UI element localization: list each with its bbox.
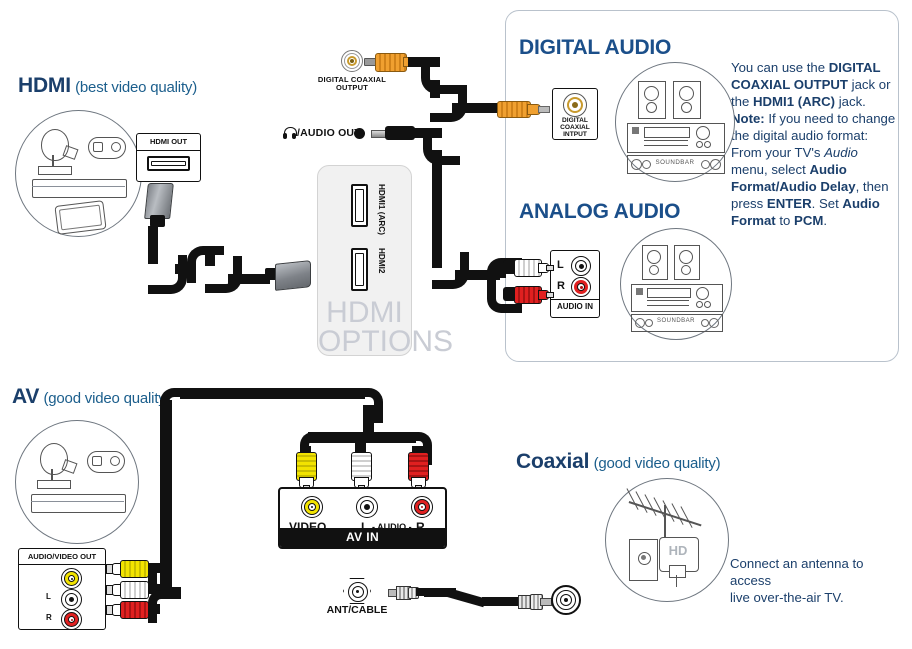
coax-cable-plug-right bbox=[497, 99, 549, 116]
digital-audio-note: You can use the DIGITAL COAXIAL OUTPUT j… bbox=[731, 60, 897, 230]
analog-jack-right[interactable] bbox=[571, 277, 591, 297]
note-bold-hdmi1-arc: HDMI1 (ARC) bbox=[753, 94, 835, 109]
ant-cable-jack[interactable] bbox=[343, 578, 371, 604]
av-cable-bundle-h-top bbox=[180, 388, 365, 399]
av-out-video-jack[interactable] bbox=[61, 568, 82, 589]
digital-coaxial-output-label: DIGITAL COAXIAL OUTPUT bbox=[302, 76, 402, 92]
digital-coaxial-input-plate: DIGITAL COAXIAL INTPUT bbox=[552, 88, 598, 140]
hdmi-out-port[interactable] bbox=[147, 156, 190, 171]
av-subtitle: (good video quality) bbox=[43, 390, 170, 407]
audio-out-jack[interactable] bbox=[354, 128, 365, 139]
av-in-video-jack[interactable] bbox=[301, 496, 323, 518]
hdmi-subtitle: (best video quality) bbox=[75, 79, 197, 96]
hdmi-out-label: HDMI OUT bbox=[137, 138, 200, 146]
audio-video-out-plate: AUDIO/VIDEO OUT L R bbox=[18, 548, 106, 630]
av-cable-bundle-v bbox=[160, 400, 172, 590]
digital-soundbar-illustration: SOUNDBAR bbox=[615, 62, 735, 182]
audio-video-out-label: AUDIO/VIDEO OUT bbox=[19, 552, 105, 561]
ant-cable-label: ANT/CABLE bbox=[320, 605, 394, 616]
analog-audio-heading: ANALOG AUDIO bbox=[519, 200, 680, 224]
coax-f-plug-right bbox=[518, 593, 554, 609]
note-seg-8: to bbox=[776, 213, 794, 228]
av-section-title: AV (good video quality) bbox=[12, 385, 170, 409]
coax-cable-plug-left bbox=[364, 53, 412, 70]
coax-antenna-cable-diag bbox=[447, 588, 486, 607]
note-seg-3: jack. bbox=[835, 94, 866, 109]
analog-audio-in-plate: L R AUDIO IN bbox=[550, 250, 600, 318]
note-seg-5: menu, select bbox=[731, 162, 809, 177]
hdmi-options-text-line2: OPTIONS bbox=[318, 327, 411, 356]
wall-coax-jack[interactable] bbox=[551, 585, 581, 615]
rca-plug-right-red bbox=[503, 286, 551, 302]
coaxial-caption: Connect an antenna to access live over-t… bbox=[730, 556, 905, 607]
note-italic-audio: Audio bbox=[824, 145, 858, 160]
diagram-canvas: DIGITAL AUDIO ANALOG AUDIO You can use t… bbox=[0, 0, 912, 649]
hdmi-title: HDMI bbox=[18, 74, 71, 97]
coax-input-label: DIGITAL COAXIAL INTPUT bbox=[553, 118, 597, 139]
audio-out-label: /AUDIO OUT bbox=[297, 127, 361, 139]
av-out-audio-l-jack[interactable] bbox=[61, 589, 82, 610]
audio-in-label: AUDIO IN bbox=[551, 303, 599, 311]
av-in-bar-label: AV IN bbox=[280, 528, 445, 547]
note-bold-enter: ENTER bbox=[767, 196, 812, 211]
hdmi-section-title: HDMI (best video quality) bbox=[18, 74, 197, 98]
analog-row-l-label: L bbox=[557, 259, 564, 271]
coaxial-caption-line1: Connect an antenna to access bbox=[730, 556, 905, 590]
av-cable-red-bend bbox=[148, 590, 181, 623]
av-out-l-label: L bbox=[46, 592, 51, 601]
coaxial-antenna-illustration: HD bbox=[605, 478, 729, 602]
note-seg-9: . bbox=[823, 213, 827, 228]
analog-soundbar-illustration: SOUNDBAR bbox=[620, 228, 732, 340]
hdmi-cable-plug-end bbox=[265, 262, 309, 288]
hdmi-cable-plug-top bbox=[146, 183, 170, 229]
headphone-icon bbox=[283, 127, 296, 139]
note-seg-7: . Set bbox=[812, 196, 843, 211]
av-plug-red-src bbox=[106, 601, 152, 617]
coaxial-caption-line2: live over-the-air TV. bbox=[730, 590, 905, 607]
note-bold-note: Note: bbox=[731, 111, 765, 126]
coaxial-section-title: Coaxial (good video quality) bbox=[516, 450, 720, 474]
note-seg-1: You can use the bbox=[731, 60, 829, 75]
digital-coaxial-output-jack[interactable] bbox=[341, 50, 363, 72]
av-plug-white-src bbox=[106, 581, 152, 597]
coax-cable-seg-h2 bbox=[452, 103, 500, 113]
hdmi1-arc-label: HDMI1 (ARC) bbox=[377, 184, 386, 235]
coaxial-subtitle: (good video quality) bbox=[594, 455, 721, 472]
av-in-audio-l-jack[interactable] bbox=[356, 496, 378, 518]
analog-jack-left[interactable] bbox=[571, 256, 591, 276]
av-out-r-label: R bbox=[46, 613, 52, 622]
hdmi1-arc-port[interactable] bbox=[351, 184, 368, 227]
hdmi2-label: HDMI2 bbox=[377, 248, 386, 273]
av-plug-yellow-src bbox=[106, 560, 152, 576]
av-in-plate: VIDEO L - AUDIO - R AV IN bbox=[278, 487, 447, 549]
coaxial-title: Coaxial bbox=[516, 450, 589, 473]
hdmi-out-plate: HDMI OUT bbox=[136, 133, 201, 182]
hdmi-source-devices-illustration bbox=[15, 110, 142, 237]
av-source-devices-illustration bbox=[15, 420, 139, 544]
rca-plug-left-white bbox=[503, 259, 551, 275]
av-title: AV bbox=[12, 385, 39, 408]
analog-row-r-label: R bbox=[557, 280, 565, 292]
hdmi-cable-bend-1 bbox=[148, 255, 187, 294]
coax-input-jack[interactable] bbox=[563, 93, 587, 117]
av-out-audio-r-jack[interactable] bbox=[61, 609, 82, 630]
audio-out-cable-seg-v1 bbox=[432, 150, 442, 268]
hdmi-options-box: HDMI1 (ARC) HDMI2 HDMI OPTIONS bbox=[317, 165, 412, 356]
hdmi-cable-seg-h2 bbox=[228, 274, 270, 284]
hdmi2-port[interactable] bbox=[351, 248, 368, 291]
digital-audio-heading: DIGITAL AUDIO bbox=[519, 36, 671, 60]
note-bold-pcm: PCM bbox=[794, 213, 823, 228]
hdmi-options-text-line1: HDMI bbox=[318, 298, 411, 327]
hd-antenna-label: HD bbox=[659, 543, 697, 558]
av-in-audio-r-jack[interactable] bbox=[411, 496, 433, 518]
